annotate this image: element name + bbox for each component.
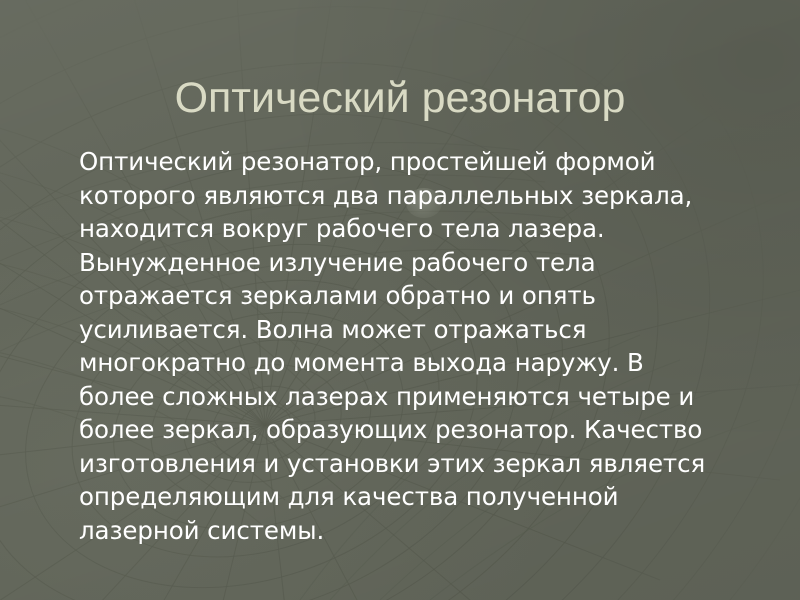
- body-line: определяющим для качества полученной: [79, 480, 739, 514]
- presentation-slide: Оптический резонатор Оптический резонато…: [0, 0, 800, 600]
- body-line: находится вокруг рабочего тела лазера.: [79, 212, 739, 246]
- body-line: изготовления и установки этих зеркал явл…: [79, 447, 739, 481]
- body-line: более сложных лазерах применяются четыре…: [79, 380, 739, 414]
- body-line: отражается зеркалами обратно и опять: [79, 279, 739, 313]
- slide-title: Оптический резонатор: [0, 73, 800, 123]
- body-line: которого являются два параллельных зерка…: [79, 179, 739, 213]
- body-line: более зеркал, образующих резонатор. Каче…: [79, 413, 739, 447]
- body-line: усиливается. Волна может отражаться: [79, 313, 739, 347]
- slide-body-text: Оптический резонатор, простейшей формой …: [79, 145, 739, 547]
- body-line: многократно до момента выхода наружу. В: [79, 346, 739, 380]
- body-line: Вынужденное излучение рабочего тела: [79, 246, 739, 280]
- body-line: Оптический резонатор, простейшей формой: [79, 145, 739, 179]
- body-line: лазерной системы.: [79, 514, 739, 548]
